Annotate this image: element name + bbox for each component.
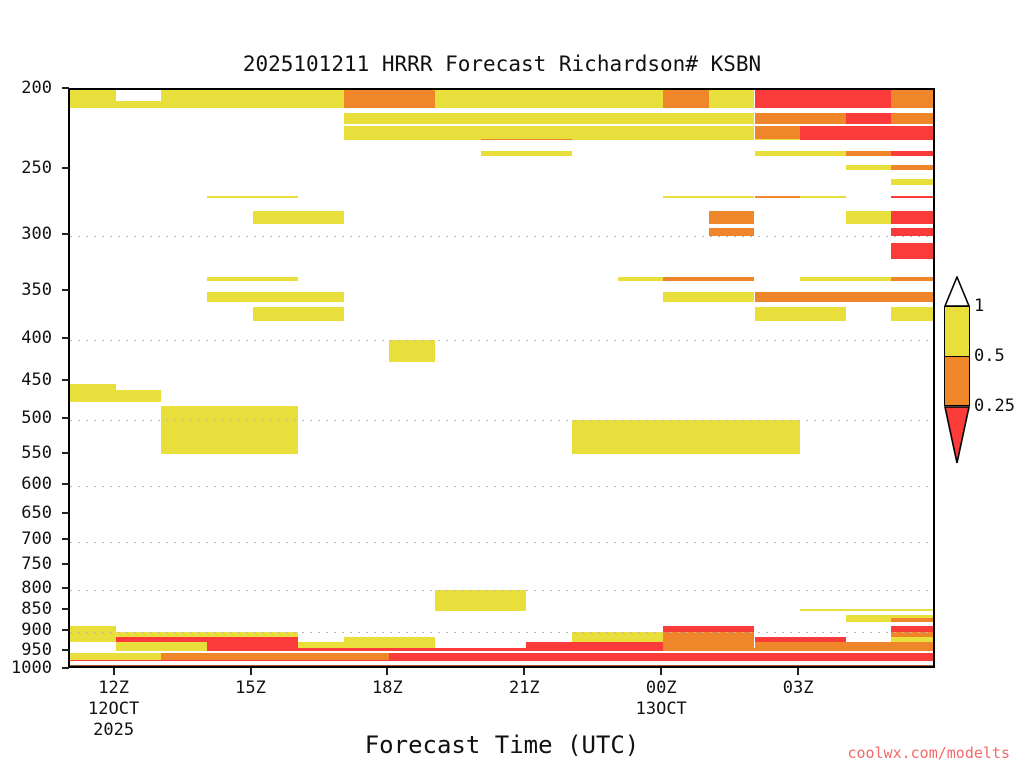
x-axis-tick-15Z xyxy=(250,668,252,675)
x-axis-tick-18Z xyxy=(386,668,388,675)
x-axis-date-13OCT: 13OCT xyxy=(621,699,701,719)
colorbar-label-0.5: 0.5 xyxy=(974,346,1005,366)
x-axis-label-12Z: 12Z xyxy=(84,678,144,698)
colorbar-label-1: 1 xyxy=(974,296,984,316)
x-axis-tick-21Z xyxy=(523,668,525,675)
colorbar-segment-1 xyxy=(944,356,970,406)
chart-page: 2025101211 HRRR Forecast Richardson# KSB… xyxy=(0,0,1024,768)
x-axis-label-03Z: 03Z xyxy=(768,678,828,698)
x-axis-label-00Z: 00Z xyxy=(631,678,691,698)
colorbar-bottom-arrow-icon xyxy=(944,406,970,468)
x-axis-tick-03Z xyxy=(797,668,799,675)
x-axis-date-12OCT: 12OCT xyxy=(74,699,154,719)
colorbar-legend: 10.50.25 xyxy=(944,306,970,466)
x-axis-label-15Z: 15Z xyxy=(221,678,281,698)
x-axis: 12Z12OCT202515Z18Z21Z00Z13OCT03Z xyxy=(0,0,1024,768)
credit-watermark: coolwx.com/modelts xyxy=(847,744,1010,762)
colorbar-label-0.25: 0.25 xyxy=(974,396,1015,416)
x-axis-tick-12Z xyxy=(113,668,115,675)
colorbar-segment-0 xyxy=(944,306,970,356)
x-axis-label-21Z: 21Z xyxy=(494,678,554,698)
x-axis-label-18Z: 18Z xyxy=(357,678,417,698)
x-axis-tick-00Z xyxy=(660,668,662,675)
